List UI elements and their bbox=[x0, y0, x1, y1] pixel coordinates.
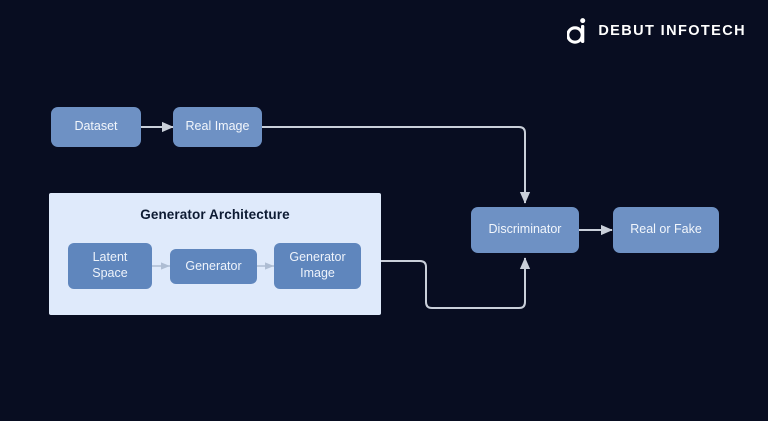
diagram-canvas: DEBUT INFOTECH Generator Architecture Da bbox=[0, 0, 768, 421]
connector-real-image-to-discriminator bbox=[262, 127, 525, 203]
node-generator-label: Generator bbox=[185, 259, 241, 275]
node-latent-space-label-line2: Space bbox=[92, 266, 127, 282]
node-generator[interactable]: Generator bbox=[170, 249, 257, 284]
brand-wordmark: DEBUT INFOTECH bbox=[598, 23, 746, 39]
node-generator-image-label-line1: Generator bbox=[289, 250, 345, 266]
generator-architecture-title: Generator Architecture bbox=[49, 207, 381, 222]
debut-infotech-d-logo-icon bbox=[567, 18, 589, 44]
node-real-or-fake[interactable]: Real or Fake bbox=[613, 207, 719, 253]
node-latent-space[interactable]: Latent Space bbox=[68, 243, 152, 289]
node-generator-image-label-line2: Image bbox=[300, 266, 335, 282]
brand-logo: DEBUT INFOTECH bbox=[567, 18, 746, 44]
node-discriminator-label: Discriminator bbox=[489, 222, 562, 238]
node-discriminator[interactable]: Discriminator bbox=[471, 207, 579, 253]
node-dataset[interactable]: Dataset bbox=[51, 107, 141, 147]
node-real-image-label: Real Image bbox=[186, 119, 250, 135]
node-latent-space-label-line1: Latent bbox=[93, 250, 128, 266]
node-real-image[interactable]: Real Image bbox=[173, 107, 262, 147]
node-real-or-fake-label: Real or Fake bbox=[630, 222, 702, 238]
node-generator-image[interactable]: Generator Image bbox=[274, 243, 361, 289]
connector-generator-image-to-discriminator bbox=[381, 258, 525, 308]
node-dataset-label: Dataset bbox=[74, 119, 117, 135]
